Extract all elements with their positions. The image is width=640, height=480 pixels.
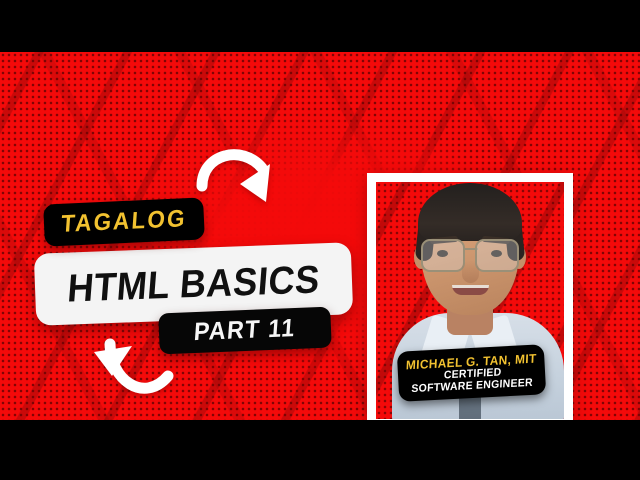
portrait-mouth [452,285,489,295]
letterbox-top [0,0,640,52]
language-badge-label: TAGALOG [60,205,187,239]
language-badge: TAGALOG [43,197,205,246]
eyeglass-lens-left [421,239,465,272]
curved-arrow-down-right-icon [196,138,282,224]
eyeglass-lens-right [475,239,519,272]
thumbnail-stage: TAGALOG HTML BASICS PART 11 [0,52,640,420]
page-title: HTML BASICS [66,260,321,308]
portrait-nose [462,261,479,283]
letterbox-bottom [0,420,640,480]
video-thumbnail: TAGALOG HTML BASICS PART 11 [0,0,640,480]
presenter-photo-frame: MICHAEL G. TAN, MIT CERTIFIED SOFTWARE E… [367,173,573,420]
presenter-name-plate: MICHAEL G. TAN, MIT CERTIFIED SOFTWARE E… [397,344,546,402]
part-badge-label: PART 11 [193,314,297,347]
presenter-photo: MICHAEL G. TAN, MIT CERTIFIED SOFTWARE E… [376,182,564,419]
portrait-hair [418,183,522,241]
part-badge: PART 11 [158,307,332,355]
